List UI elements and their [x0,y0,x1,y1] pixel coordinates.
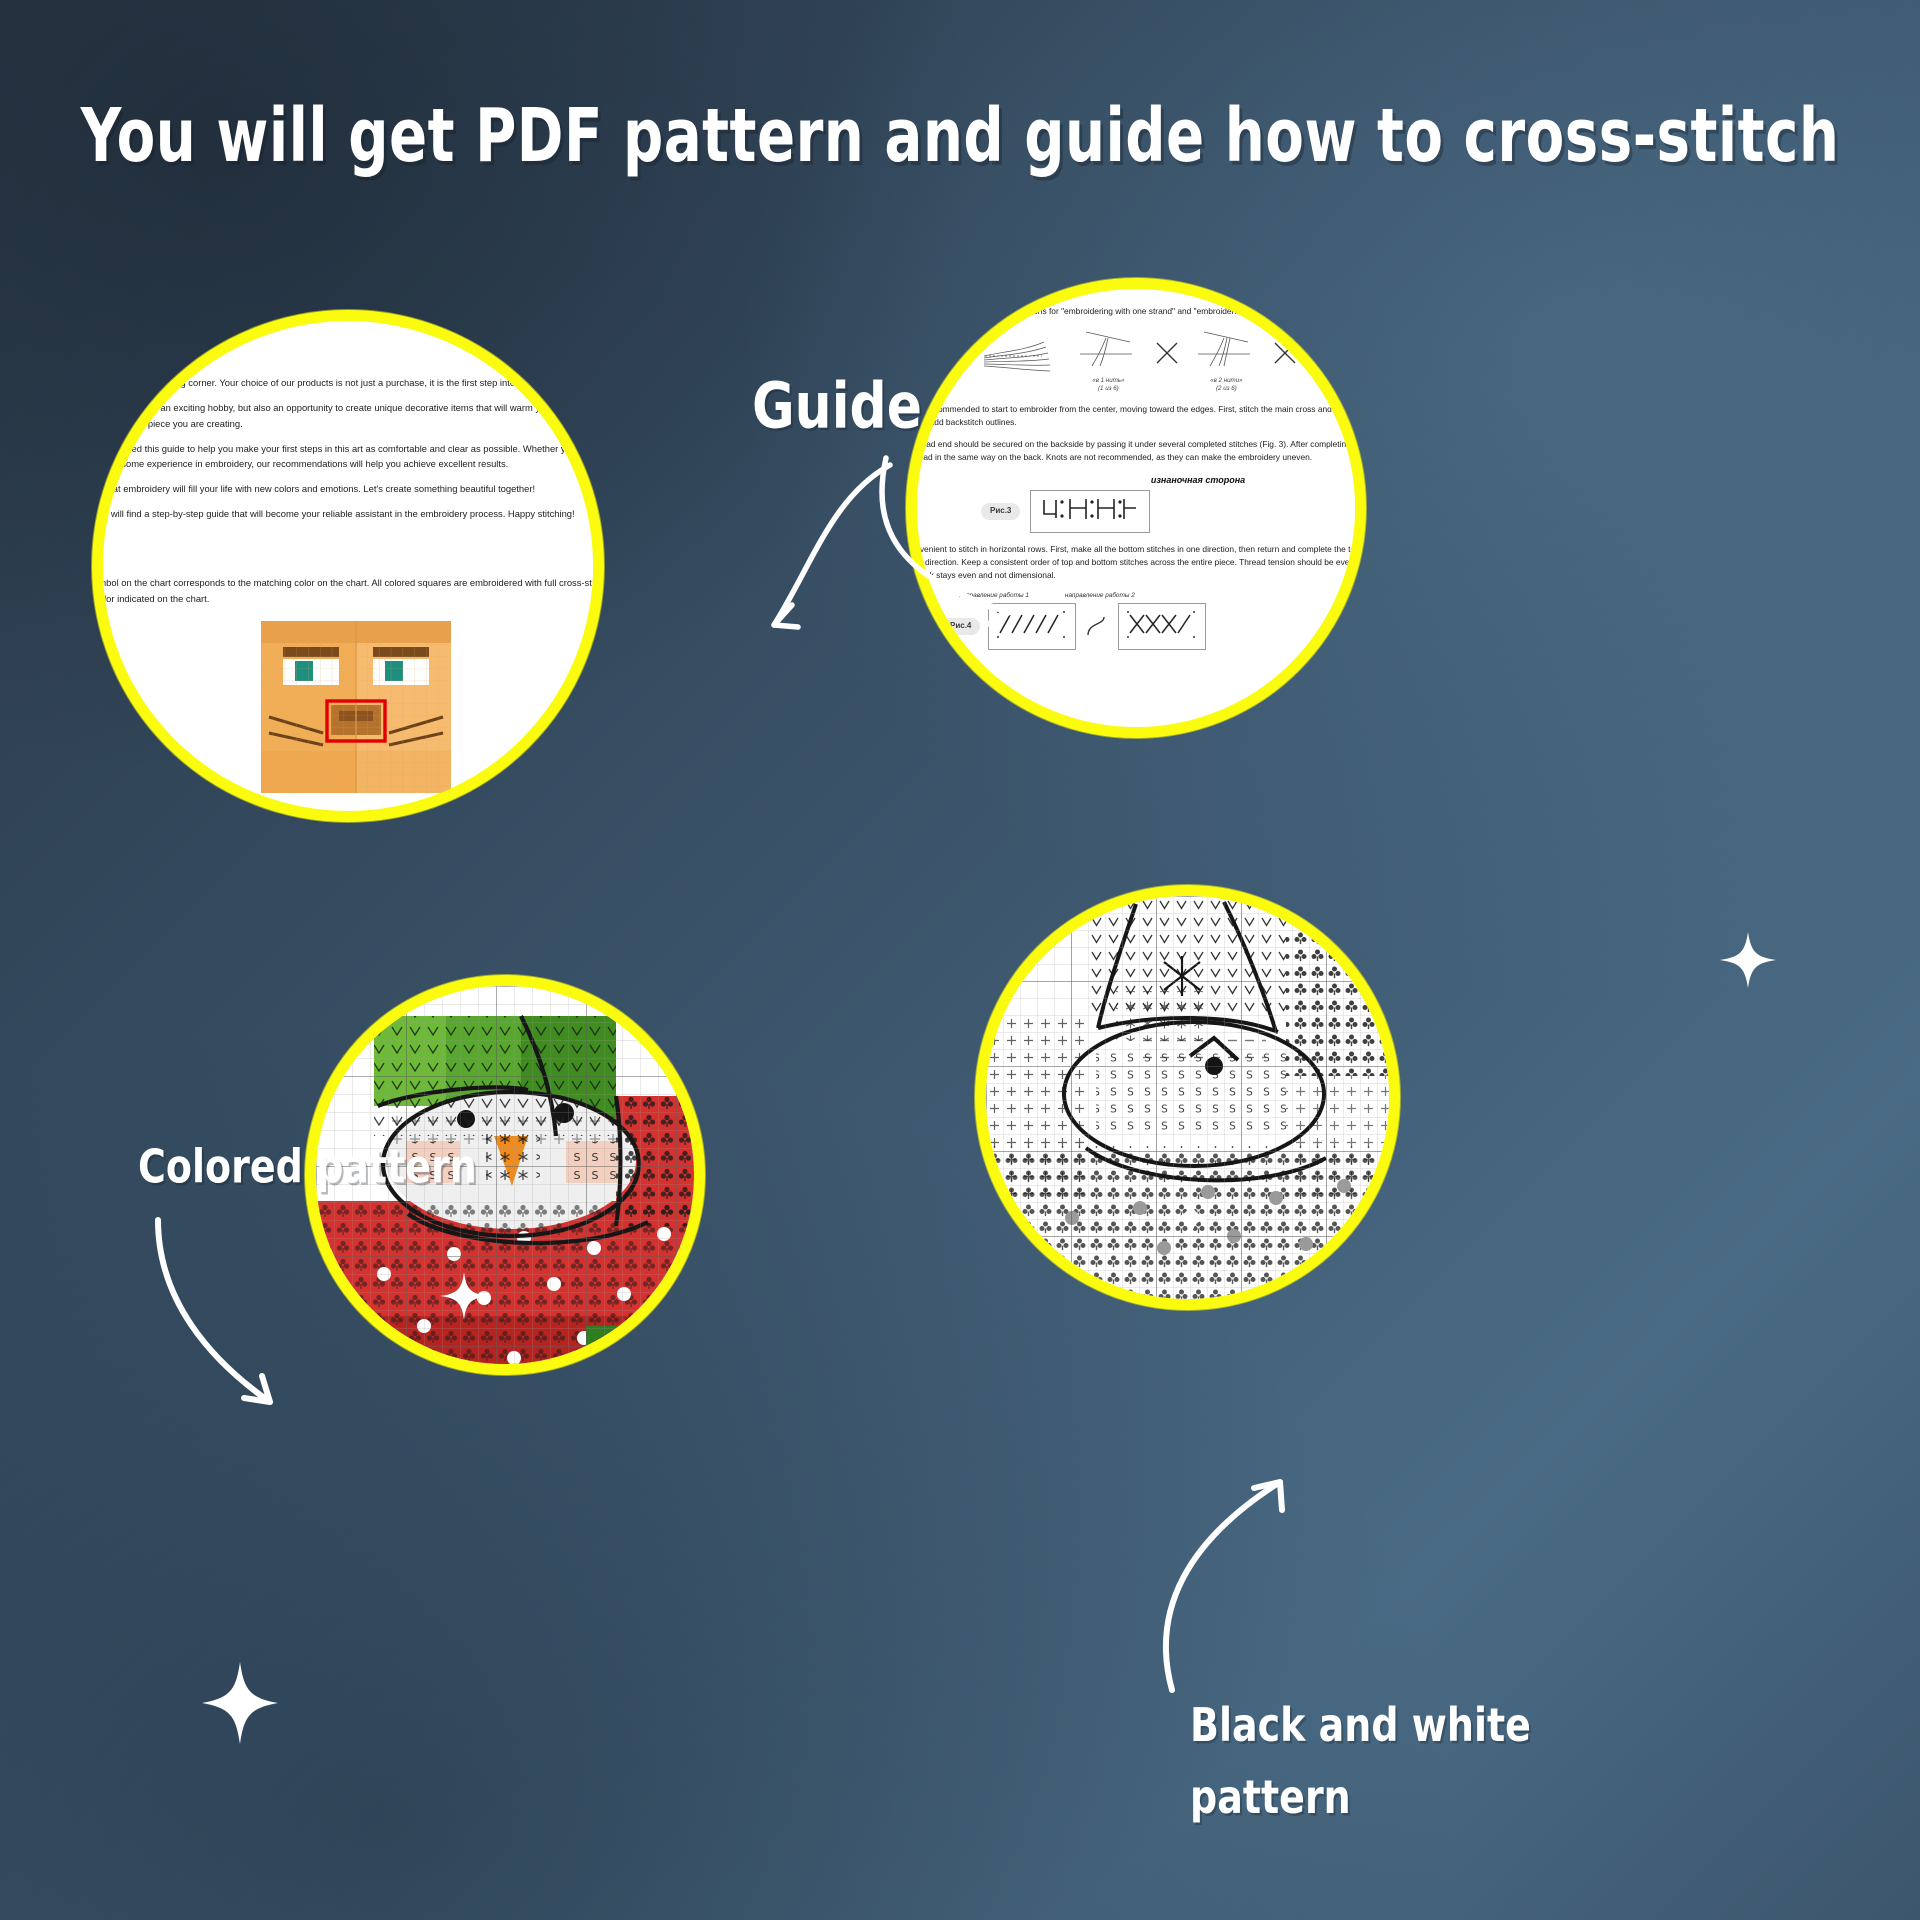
stitch-paragraph: It is recommended to start to embroider … [911,403,1366,430]
figure-caption-sub: (1 из 6) [1076,385,1140,393]
background-gradient-overlay [0,0,1920,1920]
stitching-guide-circle: There are options for "embroidering with… [906,278,1366,738]
guide-paragraph: Embroidery is not only an exciting hobby… [92,400,604,431]
bw-pattern-circle: S [975,885,1400,1310]
annotation-colored-pattern-label: Colored pattern [138,1140,477,1194]
annotation-bw-line-1: Black and white [1190,1690,1531,1762]
cross-icon [1272,340,1298,366]
direction-label-1: направление работы 1 [959,591,1029,601]
stitch-paragraph: It is convenient to stitch in horizontal… [906,543,1366,583]
annotation-bw-pattern-label: Black and white pattern [1190,1690,1531,1834]
two-strand-needle-icon [1194,326,1258,372]
figure-tag: Рис.2 [929,356,968,373]
page-title: You will get PDF pattern and guide how t… [29,92,1891,179]
direction-2-diagram [1118,603,1206,649]
figure-2-row: Рис.2 «в 1 нить» (1 из 6) [929,326,1366,393]
guide-paragraph: Below you will find a step-by-step guide… [92,506,604,522]
sparkle-icon [200,1660,280,1746]
bw-pattern-chart: S [986,896,1400,1310]
one-strand-needle-icon [1076,326,1140,372]
arrow-bw-pattern [1130,1440,1380,1700]
needle-curve-icon [1084,613,1110,639]
annotation-bw-line-2: pattern [1190,1762,1531,1834]
figure-caption-sub: (2 из 6) [1194,385,1258,393]
stitching-guide-page: There are options for "embroidering with… [906,299,1366,738]
reverse-side-label: изнаночная сторона [975,473,1366,487]
figure-caption: «в 2 нити» [1194,377,1258,385]
stitch-paragraph: There are options for "embroidering with… [981,305,1366,318]
figure-tag: Рис.3 [981,503,1020,520]
cross-icon [1154,340,1180,366]
figure-4-row: Рис.4 [941,603,1366,649]
figure-tag: Рис.4 [941,618,980,635]
guide-paragraph: Each symbol on the chart corresponds to … [92,575,604,606]
sparkle-icon [1718,930,1778,990]
pixel-art-preview [261,621,451,793]
direction-1-diagram [988,603,1076,649]
sparkle-icon [1168,1195,1214,1241]
figure-caption: «в 1 нить» [1076,377,1140,385]
sparkle-icon [438,1270,490,1322]
guide-paragraph: We have prepared this guide to help you … [92,441,604,472]
stitch-paragraph: The thread end should be secured on the … [906,438,1366,465]
guide-document-circle: Welcome to our cozy crafting corner. You… [92,310,604,822]
figure-3-row: Рис.3 [981,490,1366,532]
direction-labels: направление работы 1 направление работы … [959,591,1366,601]
guide-paragraph: Welcome to our cozy crafting corner. You… [92,375,604,391]
reverse-side-diagram [1030,490,1150,532]
guide-paragraph: We hope that embroidery will fill your l… [92,481,604,497]
annotation-guide-label: Guide [752,370,922,443]
thread-bundle-icon [982,326,1062,382]
direction-label-2: направление работы 2 [1065,591,1135,601]
